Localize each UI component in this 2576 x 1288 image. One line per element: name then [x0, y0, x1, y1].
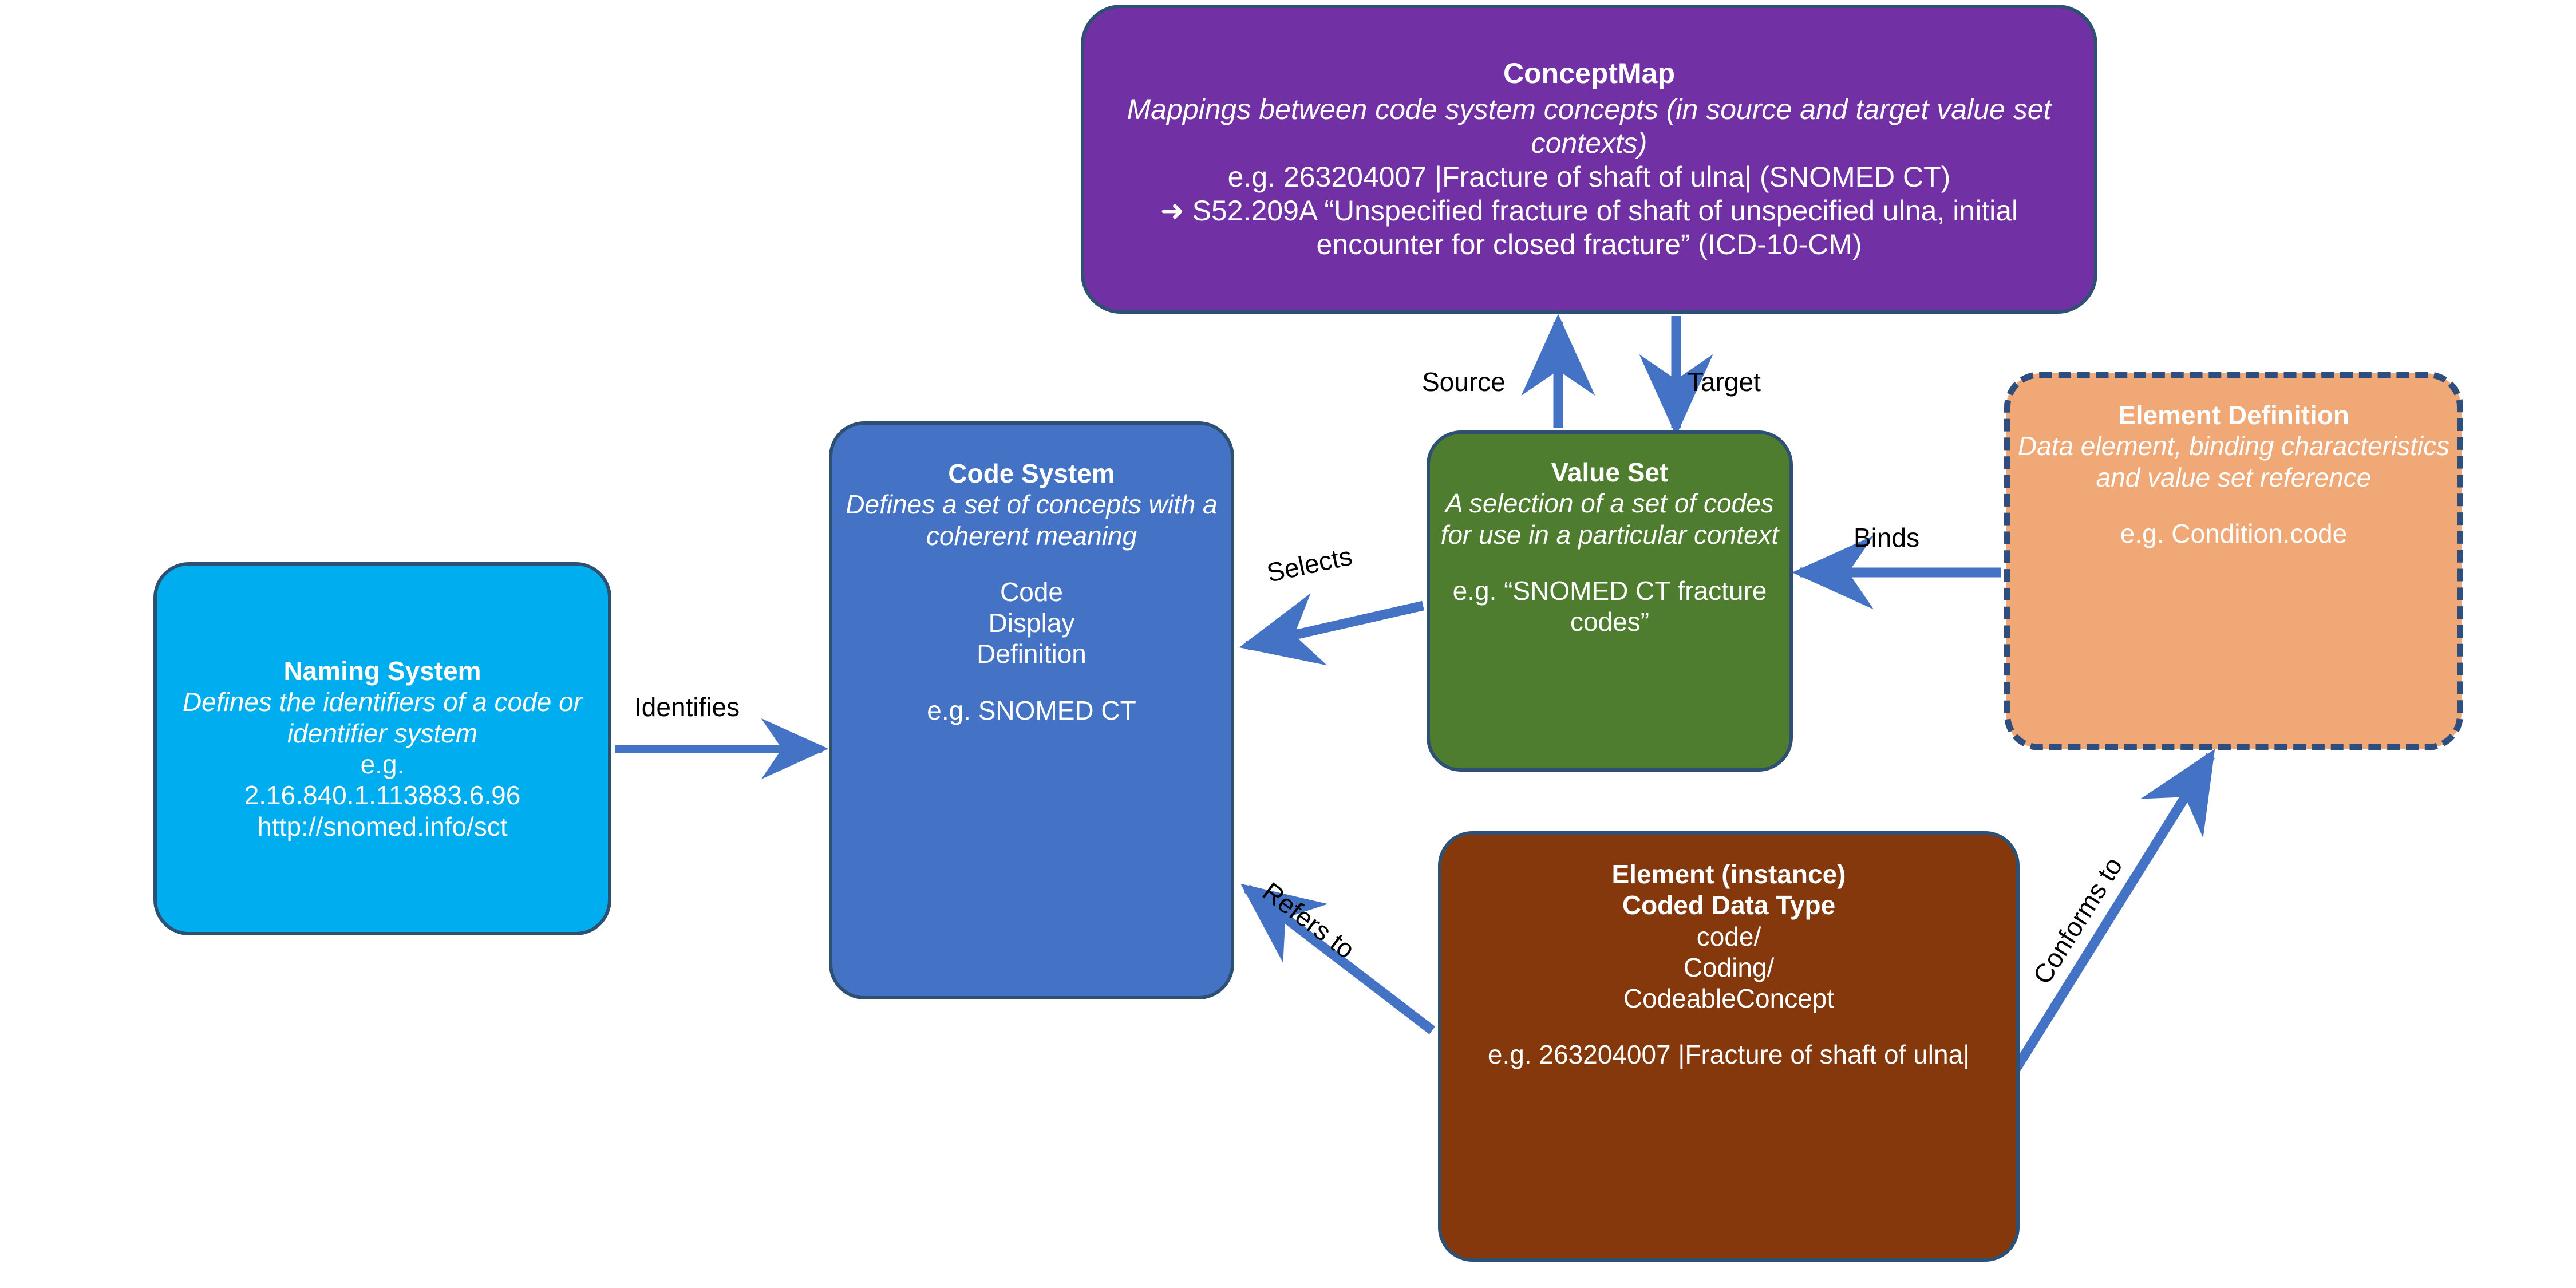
element-definition-description: Data element, binding characteristics an…	[2014, 430, 2453, 493]
element-instance-type-coding: Coding/	[1684, 952, 1775, 983]
conceptmap-title: ConceptMap	[1503, 57, 1675, 90]
edge-conforms-to	[2015, 756, 2211, 1070]
conceptmap-example-source: e.g. 263204007 |Fracture of shaft of uln…	[1228, 160, 1951, 194]
code-system-property-display: Display	[989, 607, 1075, 638]
edge-selects	[1247, 606, 1423, 646]
edge-label-target: Target	[1688, 366, 1761, 397]
edge-label-refers-to: Refers to	[1257, 876, 1361, 965]
node-element-definition[interactable]: Element Definition Data element, binding…	[2006, 373, 2462, 749]
edge-label-source: Source	[1422, 366, 1506, 397]
right-arrow-icon: ➜	[1160, 195, 1184, 227]
conceptmap-example-target-line: ➜ S52.209A “Unspecified fracture of shaf…	[1104, 194, 2075, 262]
conceptmap-description: Mappings between code system concepts (i…	[1104, 93, 2075, 160]
node-naming-system[interactable]: Naming System Defines the identifiers of…	[153, 562, 611, 935]
value-set-title: Value Set	[1551, 457, 1669, 488]
naming-system-example-oid: 2.16.840.1.113883.6.96	[244, 780, 521, 811]
node-element-instance[interactable]: Element (instance) Coded Data Type code/…	[1438, 831, 2020, 1262]
edge-label-binds: Binds	[1854, 522, 1919, 553]
value-set-example: e.g. “SNOMED CT fracture codes”	[1438, 575, 1781, 638]
element-instance-type-code: code/	[1697, 921, 1761, 952]
element-instance-example: e.g. 263204007 |Fracture of shaft of uln…	[1488, 1039, 1970, 1070]
element-definition-title: Element Definition	[2118, 400, 2349, 430]
code-system-property-definition: Definition	[977, 638, 1086, 669]
node-value-set[interactable]: Value Set A selection of a set of codes …	[1427, 430, 1793, 772]
code-system-example: e.g. SNOMED CT	[927, 695, 1136, 726]
code-system-property-code: Code	[1000, 576, 1063, 607]
naming-system-title: Naming System	[283, 655, 481, 686]
naming-system-example-label: e.g.	[361, 749, 405, 780]
edge-label-selects: Selects	[1264, 540, 1355, 588]
code-system-title: Code System	[948, 458, 1115, 489]
element-definition-example: e.g. Condition.code	[2120, 518, 2347, 549]
naming-system-description: Defines the identifiers of a code or ide…	[165, 686, 600, 749]
code-system-description: Defines a set of concepts with a coheren…	[840, 489, 1223, 551]
node-code-system[interactable]: Code System Defines a set of concepts wi…	[829, 421, 1234, 999]
conceptmap-example-target: S52.209A “Unspecified fracture of shaft …	[1192, 195, 2018, 260]
diagram-canvas: ConceptMap Mappings between code system …	[0, 0, 2576, 1288]
node-conceptmap[interactable]: ConceptMap Mappings between code system …	[1081, 5, 2097, 314]
element-instance-subtitle: Coded Data Type	[1622, 890, 1835, 920]
element-instance-type-codeableconcept: CodeableConcept	[1623, 983, 1834, 1014]
naming-system-example-uri: http://snomed.info/sct	[257, 811, 507, 842]
edge-label-identifies: Identifies	[634, 692, 740, 722]
value-set-description: A selection of a set of codes for use in…	[1438, 488, 1781, 550]
edge-label-conforms-to: Conforms to	[2026, 852, 2129, 990]
element-instance-title: Element (instance)	[1612, 859, 1846, 890]
